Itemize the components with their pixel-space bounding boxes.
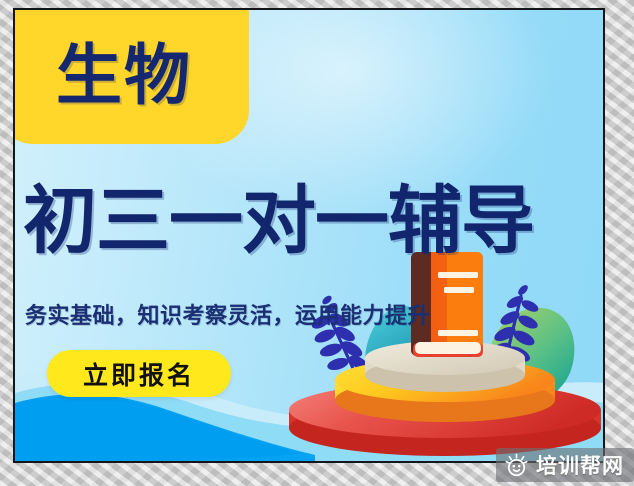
site-watermark-label: 培训帮网 xyxy=(536,450,624,480)
site-watermark: 培训帮网 xyxy=(496,448,634,482)
course-banner-poster: 生物 初三一对一辅导 务实基础，知识考察灵活，运用能力提升 立即报名 xyxy=(13,8,605,463)
enroll-now-button[interactable]: 立即报名 xyxy=(47,350,231,397)
subject-badge-label: 生物 xyxy=(56,43,192,109)
headline-title: 初三一对一辅导 xyxy=(23,184,603,258)
enroll-now-button-label: 立即报名 xyxy=(83,356,195,392)
book-podium-illustration xyxy=(283,250,605,463)
subtitle-text: 务实基础，知识考察灵活，运用能力提升 xyxy=(25,298,430,330)
subject-badge: 生物 xyxy=(13,8,249,144)
sun-face-icon xyxy=(504,453,529,478)
